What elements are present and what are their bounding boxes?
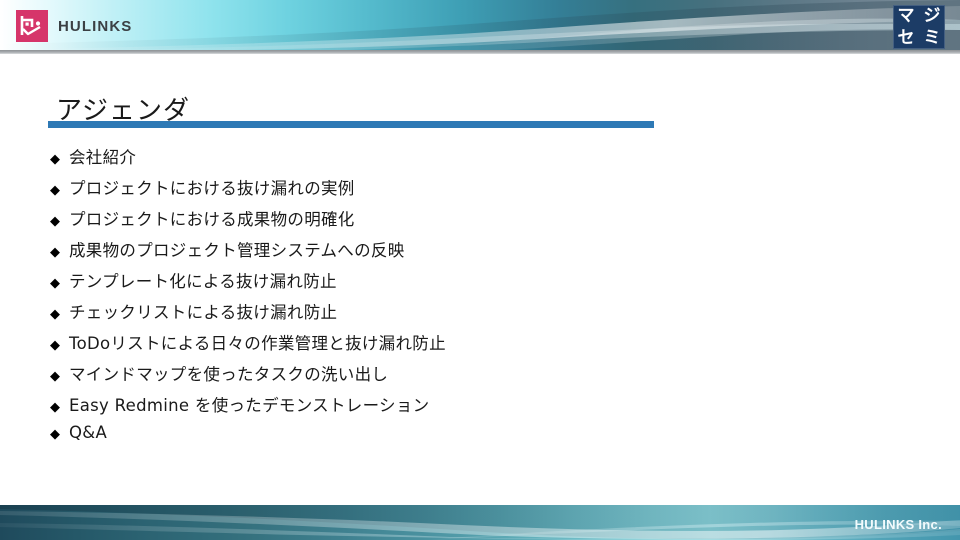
- footer-wave-decoration: [0, 505, 960, 540]
- diamond-bullet-icon: ◆: [50, 215, 60, 228]
- hulinks-mark-icon: [16, 10, 48, 42]
- list-item: ◆ チェックリストによる抜け漏れ防止: [50, 299, 910, 330]
- diamond-bullet-icon: ◆: [50, 153, 60, 166]
- diamond-bullet-icon: ◆: [50, 308, 60, 321]
- majisemi-char-2: ジ: [924, 8, 941, 25]
- list-item-label: Q&A: [69, 423, 107, 442]
- list-item-label: 会社紹介: [69, 144, 136, 168]
- majisemi-char-3: セ: [898, 30, 915, 47]
- list-item-label: ToDoリストによる日々の作業管理と抜け漏れ防止: [69, 330, 446, 354]
- list-item: ◆ Easy Redmine を使ったデモンストレーション: [50, 392, 910, 423]
- hulinks-brand-logo: HULINKS: [16, 10, 132, 42]
- list-item: ◆ プロジェクトにおける抜け漏れの実例: [50, 175, 910, 206]
- majisemi-char-1: マ: [898, 8, 915, 25]
- list-item-label: チェックリストによる抜け漏れ防止: [69, 299, 337, 323]
- header-divider: [0, 50, 960, 54]
- list-item: ◆ プロジェクトにおける成果物の明確化: [50, 206, 910, 237]
- diamond-bullet-icon: ◆: [50, 401, 60, 414]
- list-item-label: プロジェクトにおける成果物の明確化: [69, 206, 355, 230]
- diamond-bullet-icon: ◆: [50, 277, 60, 290]
- diamond-bullet-icon: ◆: [50, 184, 60, 197]
- title-underline-bar: [48, 121, 654, 128]
- majisemi-char-4: ミ: [924, 30, 941, 47]
- list-item-label: テンプレート化による抜け漏れ防止: [69, 268, 337, 292]
- list-item-label: プロジェクトにおける抜け漏れの実例: [69, 175, 355, 199]
- list-item: ◆ マインドマップを使ったタスクの洗い出し: [50, 361, 910, 392]
- slide-header: HULINKS マ ジ セ ミ: [0, 0, 960, 52]
- slide-footer: [0, 505, 960, 540]
- diamond-bullet-icon: ◆: [50, 428, 60, 441]
- list-item: ◆ テンプレート化による抜け漏れ防止: [50, 268, 910, 299]
- majisemi-logo-icon: マ ジ セ ミ: [893, 5, 945, 49]
- list-item: ◆ ToDoリストによる日々の作業管理と抜け漏れ防止: [50, 330, 910, 361]
- list-item: ◆ 成果物のプロジェクト管理システムへの反映: [50, 237, 910, 268]
- hulinks-wordmark: HULINKS: [58, 18, 132, 35]
- footer-company-name: HULINKS Inc.: [855, 517, 942, 532]
- diamond-bullet-icon: ◆: [50, 370, 60, 383]
- list-item: ◆ 会社紹介: [50, 144, 910, 175]
- header-wave-decoration: [0, 0, 960, 52]
- list-item: ◆ Q&A: [50, 423, 910, 454]
- list-item-label: マインドマップを使ったタスクの洗い出し: [69, 361, 388, 385]
- list-item-label: 成果物のプロジェクト管理システムへの反映: [69, 237, 405, 261]
- diamond-bullet-icon: ◆: [50, 246, 60, 259]
- agenda-list: ◆ 会社紹介 ◆ プロジェクトにおける抜け漏れの実例 ◆ プロジェクトにおける成…: [50, 144, 910, 454]
- diamond-bullet-icon: ◆: [50, 339, 60, 352]
- list-item-label: Easy Redmine を使ったデモンストレーション: [69, 392, 429, 416]
